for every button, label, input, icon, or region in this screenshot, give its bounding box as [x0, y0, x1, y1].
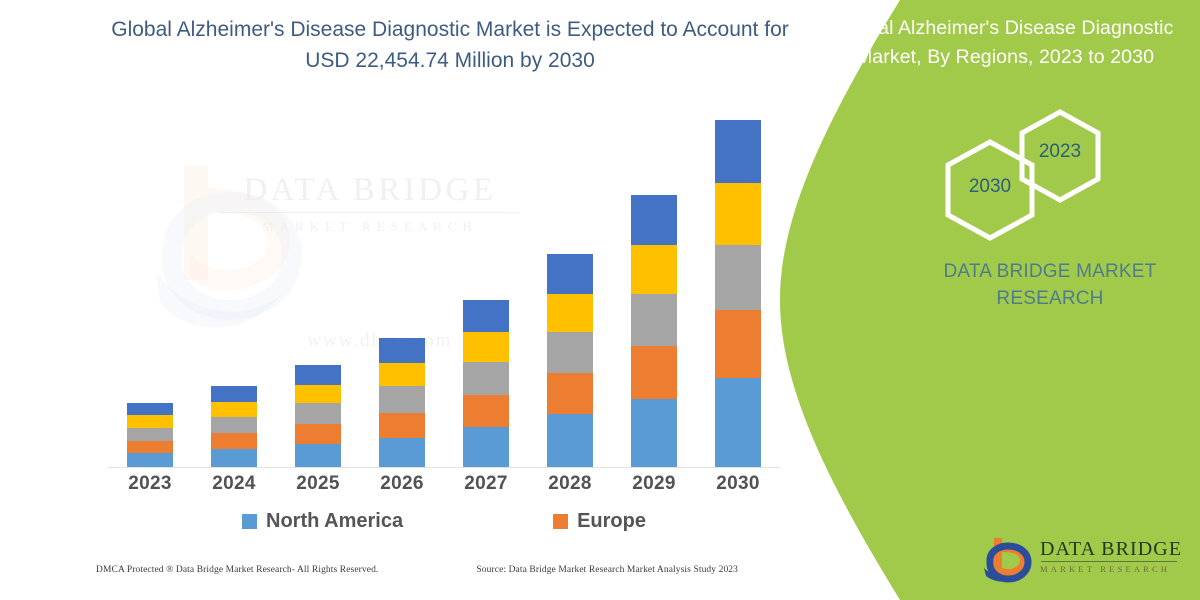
x-tick-2026: 2026	[379, 473, 425, 495]
bar-segment	[379, 438, 425, 467]
bar-segment	[127, 403, 173, 415]
legend-item-north-america[interactable]: North America	[242, 510, 403, 533]
chart-legend: North AmericaEurope	[108, 510, 780, 533]
bar-segment	[379, 413, 425, 438]
bar-segment	[463, 332, 509, 362]
bar-segment	[379, 338, 425, 363]
chart-axis-line	[108, 467, 780, 468]
bar-2026	[379, 338, 425, 467]
bar-segment	[295, 403, 341, 424]
bar-segment	[127, 441, 173, 453]
bar-segment	[547, 254, 593, 293]
bar-segment	[715, 245, 761, 311]
chart-x-axis: 20232024202520262027202820292030	[108, 473, 780, 495]
x-tick-2030: 2030	[715, 473, 761, 495]
legend-label: Europe	[577, 510, 646, 533]
bar-segment	[631, 195, 677, 245]
logo: DATA BRIDGE MARKET RESEARCH	[980, 532, 1190, 588]
bar-segment	[463, 395, 509, 427]
bar-segment	[295, 365, 341, 385]
chart-bars	[108, 120, 780, 467]
bar-segment	[631, 294, 677, 347]
logo-line1: DATA BRIDGE	[1040, 538, 1182, 560]
panel-brand-text: DATA BRIDGE MARKET RESEARCH	[905, 258, 1195, 312]
bar-segment	[127, 415, 173, 427]
legend-swatch-icon	[242, 514, 257, 529]
bar-segment	[463, 427, 509, 467]
x-tick-2025: 2025	[295, 473, 341, 495]
x-tick-2029: 2029	[631, 473, 677, 495]
bar-segment	[715, 183, 761, 245]
legend-swatch-icon	[553, 514, 568, 529]
legend-item-europe[interactable]: Europe	[553, 510, 646, 533]
footer-source: Source: Data Bridge Market Research Mark…	[476, 565, 738, 575]
bar-2027	[463, 300, 509, 467]
bar-2029	[631, 195, 677, 467]
bar-segment	[211, 417, 257, 433]
bar-2024	[211, 386, 257, 467]
bar-2028	[547, 254, 593, 467]
bar-segment	[547, 294, 593, 332]
infographic-page: Global Alzheimer's Disease Diagnostic Ma…	[0, 0, 1200, 600]
page-title: Global Alzheimer's Disease Diagnostic Ma…	[110, 14, 790, 76]
bar-segment	[211, 433, 257, 449]
bar-segment	[463, 362, 509, 395]
bar-segment	[631, 346, 677, 399]
bar-segment	[547, 373, 593, 414]
bar-segment	[211, 402, 257, 417]
x-tick-2028: 2028	[547, 473, 593, 495]
bar-segment	[379, 386, 425, 412]
footer: DMCA Protected ® Data Bridge Market Rese…	[0, 565, 790, 575]
bar-segment	[715, 378, 761, 467]
bar-2030	[715, 120, 761, 467]
logo-divider	[1041, 561, 1177, 562]
bar-segment	[379, 363, 425, 386]
x-tick-2024: 2024	[211, 473, 257, 495]
bar-segment	[631, 399, 677, 467]
bar-segment	[211, 386, 257, 402]
logo-line2: MARKET RESEARCH	[1040, 564, 1182, 574]
hexagon-2030-label: 2030	[942, 176, 1038, 198]
bar-2023	[127, 403, 173, 467]
footer-copyright: DMCA Protected ® Data Bridge Market Rese…	[96, 565, 378, 575]
logo-text: DATA BRIDGE MARKET RESEARCH	[1040, 538, 1182, 574]
data-bridge-logo-icon	[980, 534, 1036, 586]
bar-segment	[127, 428, 173, 441]
bar-segment	[547, 332, 593, 373]
bar-segment	[715, 310, 761, 378]
bar-segment	[547, 414, 593, 467]
hexagon-2030: 2030	[942, 138, 1038, 242]
bar-segment	[631, 245, 677, 294]
bar-segment	[295, 385, 341, 404]
stacked-bar-chart	[108, 120, 780, 468]
bar-segment	[211, 449, 257, 467]
bar-segment	[127, 453, 173, 467]
x-tick-2023: 2023	[127, 473, 173, 495]
bar-segment	[295, 444, 341, 467]
bar-segment	[715, 120, 761, 183]
bar-segment	[295, 424, 341, 444]
panel-title: Global Alzheimer's Disease Diagnostic Ma…	[820, 14, 1190, 72]
legend-label: North America	[266, 510, 403, 533]
bar-2025	[295, 365, 341, 467]
hexagon-badges: 2023 2030	[930, 108, 1120, 228]
bar-segment	[463, 300, 509, 332]
x-tick-2027: 2027	[463, 473, 509, 495]
